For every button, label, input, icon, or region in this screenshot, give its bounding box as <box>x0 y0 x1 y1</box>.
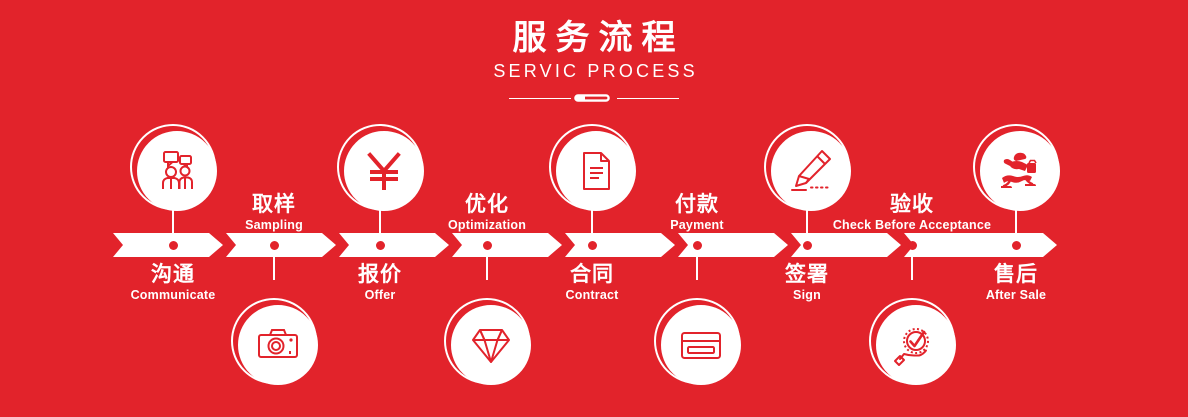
node-dot <box>803 241 812 250</box>
node-dot <box>270 241 279 250</box>
hand-check-badge-icon <box>876 305 956 385</box>
step-label-en: Communicate <box>93 287 253 303</box>
step-label-cn: 付款 <box>617 192 777 217</box>
connector-stem <box>591 210 593 234</box>
step-label-optimization: 优化 Optimization <box>407 192 567 233</box>
step-label-en: Offer <box>300 287 460 303</box>
connector-stem <box>379 210 381 234</box>
step-label-cn: 售后 <box>936 262 1096 287</box>
arrow-segment <box>452 233 562 257</box>
step-label-offer: 报价 Offer <box>300 262 460 303</box>
connector-stem <box>172 210 174 234</box>
step-label-acceptance: 验收 Check Before Acceptance <box>822 192 1002 233</box>
divider-line-right <box>617 98 679 100</box>
step-label-cn: 优化 <box>407 192 567 217</box>
step-badge-sampling[interactable] <box>231 298 317 384</box>
step-label-sampling: 取样 Sampling <box>194 192 354 233</box>
step-label-after-sale: 售后 After Sale <box>936 262 1096 303</box>
step-badge-acceptance[interactable] <box>869 298 955 384</box>
step-label-communicate: 沟通 Communicate <box>93 262 253 303</box>
connector-stem <box>696 256 698 280</box>
camera-icon <box>238 305 318 385</box>
node-dot <box>588 241 597 250</box>
process-arrow-bar <box>113 233 1057 257</box>
step-badge-payment[interactable] <box>654 298 740 384</box>
paperclip-icon <box>566 92 622 104</box>
arrow-segment-last <box>904 233 1057 257</box>
node-dot <box>483 241 492 250</box>
connector-stem <box>273 256 275 280</box>
step-label-en: Sampling <box>194 217 354 233</box>
arrow-segment <box>113 233 223 257</box>
step-label-en: Sign <box>727 287 887 303</box>
step-label-cn: 取样 <box>194 192 354 217</box>
step-label-en: Check Before Acceptance <box>822 217 1002 233</box>
node-dot <box>908 241 917 250</box>
diamond-gem-icon <box>451 305 531 385</box>
step-label-cn: 签署 <box>727 262 887 287</box>
arrow-segment <box>339 233 449 257</box>
step-label-en: Optimization <box>407 217 567 233</box>
step-label-en: Contract <box>512 287 672 303</box>
credit-card-icon <box>661 305 741 385</box>
step-label-cn: 合同 <box>512 262 672 287</box>
step-label-en: Payment <box>617 217 777 233</box>
step-label-en: After Sale <box>936 287 1096 303</box>
step-label-cn: 验收 <box>822 192 1002 217</box>
step-label-contract: 合同 Contract <box>512 262 672 303</box>
connector-stem <box>806 210 808 234</box>
title-divider <box>509 90 679 106</box>
node-dot <box>1012 241 1021 250</box>
step-label-payment: 付款 Payment <box>617 192 777 233</box>
connector-stem <box>1015 210 1017 234</box>
infographic-canvas: 服务流程 SERVIC PROCESS <box>0 0 1188 417</box>
header: 服务流程 SERVIC PROCESS <box>0 18 1188 106</box>
node-dot <box>693 241 702 250</box>
node-dot <box>169 241 178 250</box>
arrow-segment <box>565 233 675 257</box>
step-label-cn: 沟通 <box>93 262 253 287</box>
page-title-en: SERVIC PROCESS <box>0 60 1188 82</box>
arrow-segment <box>226 233 336 257</box>
divider-line-left <box>509 98 571 100</box>
node-dot <box>376 241 385 250</box>
step-label-sign: 签署 Sign <box>727 262 887 303</box>
step-badge-optimization[interactable] <box>444 298 530 384</box>
page-title-cn: 服务流程 <box>0 18 1188 58</box>
connector-stem <box>911 256 913 280</box>
step-label-cn: 报价 <box>300 262 460 287</box>
connector-stem <box>486 256 488 280</box>
